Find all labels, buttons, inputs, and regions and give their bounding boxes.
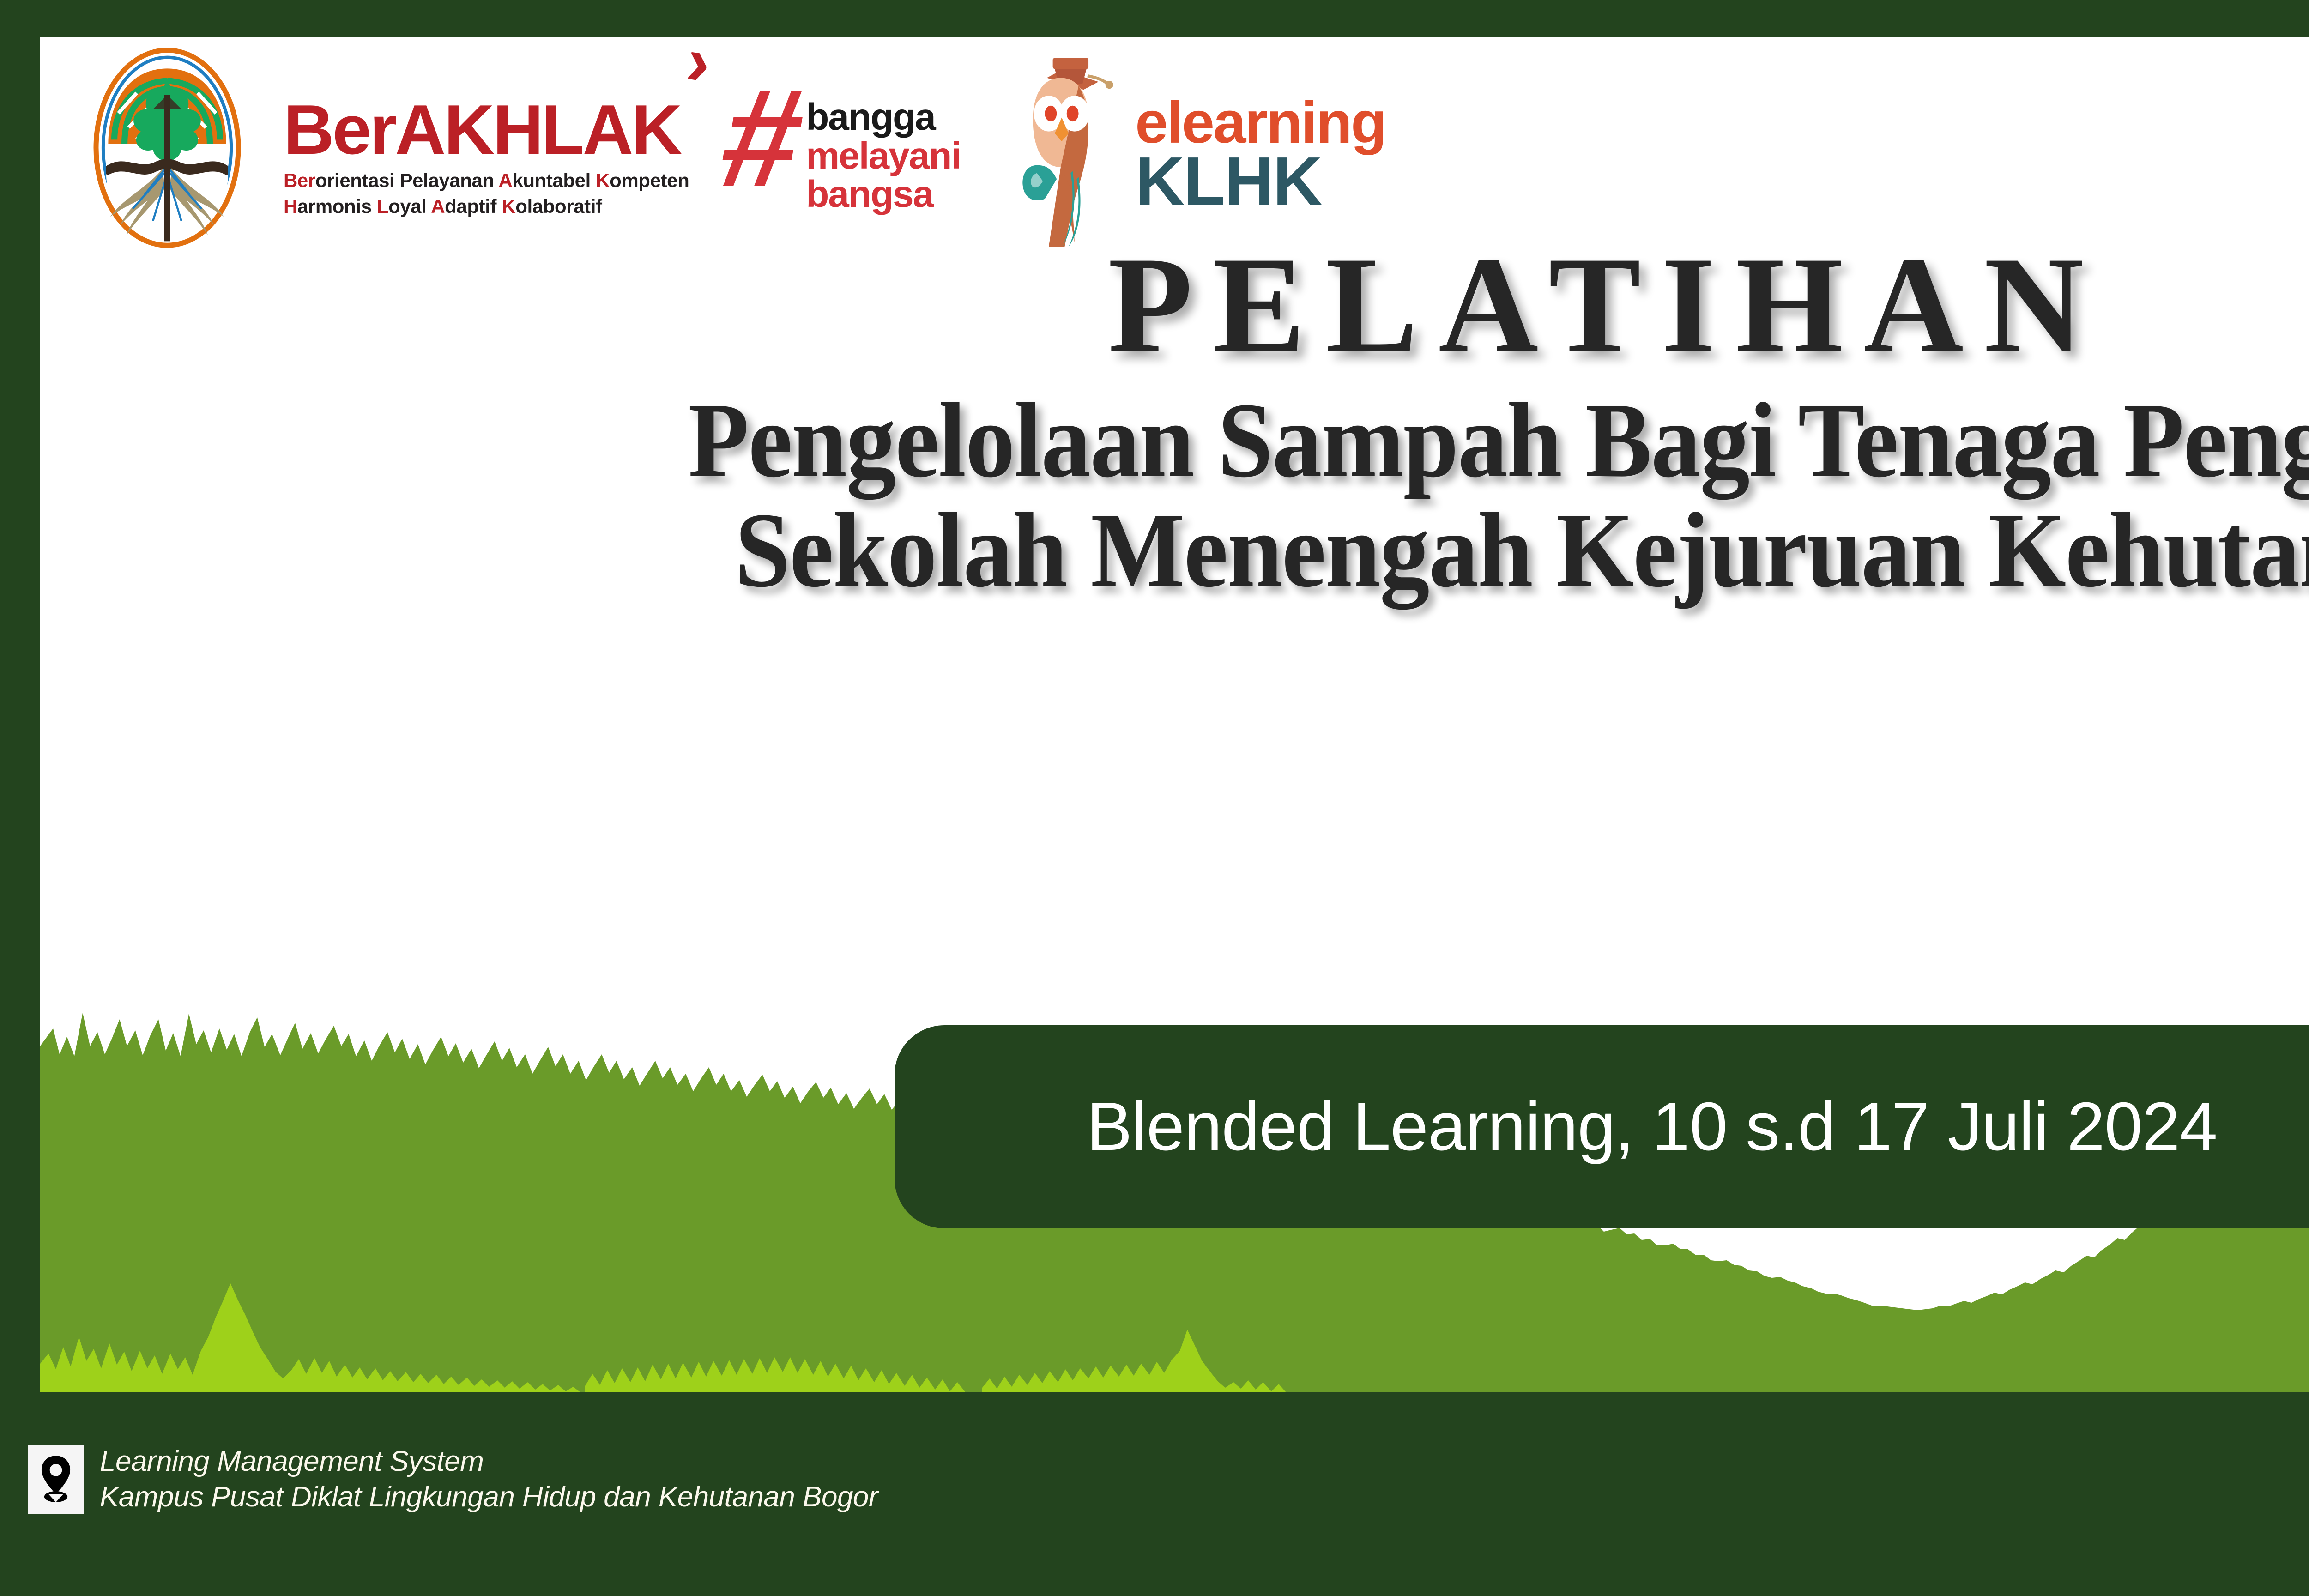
berakhlak-tick-icon: ›	[682, 37, 716, 103]
training-announcement-banner: BerAKHLAK › Berorientasi Pelayanan Akunt…	[0, 0, 2309, 1596]
elearning-klhk-logo: elearning KLHK	[985, 46, 1385, 247]
footer-text-lines: Learning Management System Kampus Pusat …	[100, 1444, 878, 1515]
hashtag-icon: #	[715, 88, 810, 187]
bangga-line-2: melayani	[806, 137, 961, 175]
footer-line-2: Kampus Pusat Diklat Lingkungan Hidup dan…	[100, 1480, 878, 1515]
berakhlak-logo: BerAKHLAK › Berorientasi Pelayanan Akunt…	[284, 46, 689, 219]
bangga-line-1: bangga	[806, 98, 961, 137]
berakhlak-tagline: Berorientasi Pelayanan Akuntabel Kompete…	[284, 168, 689, 220]
subtitle-line-2: Sekolah Menengah Kejuruan Kehutanan	[149, 494, 2309, 607]
kemenhut-tree-emblem-icon	[66, 46, 269, 249]
schedule-badge-label: Blended Learning, 10 s.d 17 Juli 2024	[1087, 1088, 2217, 1166]
berakhlak-tagline-line-1: Berorientasi Pelayanan Akuntabel Kompete…	[284, 168, 689, 193]
graduating-owl-icon	[985, 48, 1138, 247]
subtitle-line-1: Pengelolaan Sampah Bagi Tenaga Pengajar	[149, 384, 2309, 497]
location-pin-icon	[28, 1445, 84, 1514]
klhk-word: KLHK	[1135, 152, 1385, 211]
footer-location-group: Learning Management System Kampus Pusat …	[28, 1444, 878, 1515]
elearning-word: elearning	[1135, 96, 1385, 149]
banner-content-stage: BerAKHLAK › Berorientasi Pelayanan Akunt…	[40, 37, 2309, 1392]
footer-line-1: Learning Management System	[100, 1444, 878, 1480]
schedule-badge: Blended Learning, 10 s.d 17 Juli 2024	[895, 1025, 2309, 1228]
headline-block: PELATIHAN Pengelolaan Sampah Bagi Tenaga…	[40, 236, 2309, 606]
berakhlak-wordmark: BerAKHLAK	[284, 97, 689, 163]
page-title: PELATIHAN	[40, 236, 2309, 374]
bangga-line-3: bangsa	[806, 175, 961, 214]
berakhlak-tagline-line-2: Harmonis Loyal Adaptif Kolaboratif	[284, 193, 689, 219]
bangga-melayani-bangsa-logo: # bangga melayani bangsa	[724, 46, 961, 214]
logo-row: BerAKHLAK › Berorientasi Pelayanan Akunt…	[66, 46, 1385, 249]
footer-bar: Learning Management System Kampus Pusat …	[0, 1392, 2309, 1596]
